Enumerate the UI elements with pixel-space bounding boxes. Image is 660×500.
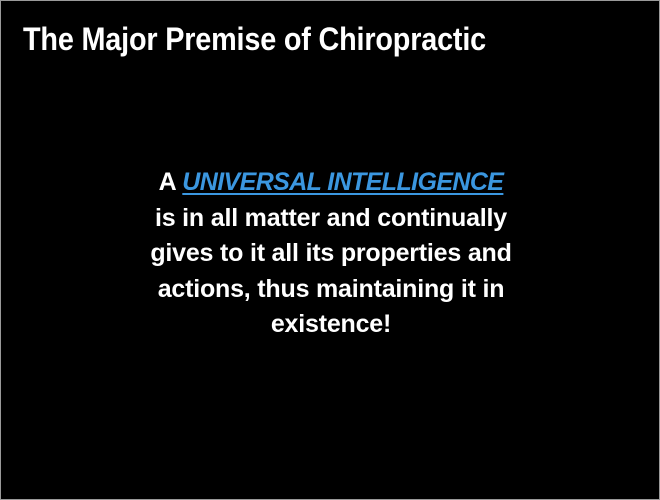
presentation-slide: The Major Premise of Chiropractic A UNIV… bbox=[0, 0, 660, 500]
body-line-1: A UNIVERSAL INTELLIGENCE bbox=[111, 165, 551, 201]
body-line-5: existence! bbox=[111, 307, 551, 343]
emphasized-term: UNIVERSAL INTELLIGENCE bbox=[182, 168, 503, 196]
page-title: The Major Premise of Chiropractic bbox=[23, 19, 563, 59]
body-lead-word: A bbox=[159, 168, 176, 196]
body-line-3: gives to it all its properties and bbox=[111, 236, 551, 272]
body-line-2: is in all matter and continually bbox=[111, 201, 551, 237]
slide-body-text: A UNIVERSAL INTELLIGENCE is in all matte… bbox=[111, 165, 551, 343]
body-line-4: actions, thus maintaining it in bbox=[111, 272, 551, 308]
